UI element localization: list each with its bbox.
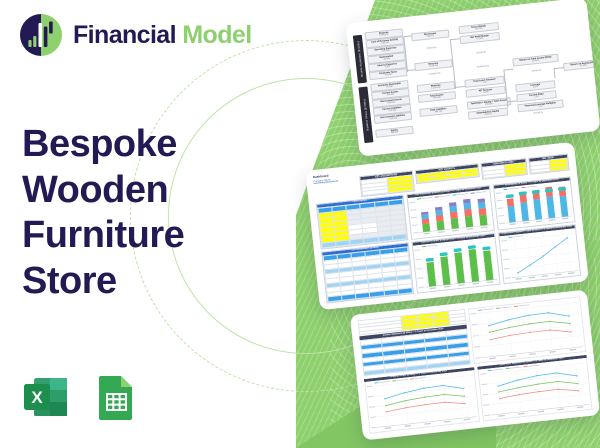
financial-statements-card[interactable]: Income Statement ($ 000s) — 5 Years to D…	[350, 290, 600, 441]
panel-income-statement-table[interactable]: Income Statement ($ 000s) — 5 Years to D…	[357, 309, 470, 376]
cost-breakdown-table	[322, 246, 413, 302]
dashboard-card[interactable]: Dashboard Company Name www.financialmode…	[305, 142, 589, 310]
dupont-section-label: Income Statement ($ 000s)	[356, 41, 363, 77]
headline-line-2: Wooden	[22, 168, 272, 214]
case-outputs-table	[317, 199, 407, 248]
dupont-analysis-card[interactable]: Income Statement ($ 000s) Balance Sheet …	[345, 0, 600, 157]
dupont-connector	[450, 38, 460, 39]
chart-income-statement-trend	[468, 296, 586, 364]
dupont-node: Net Income192,513	[411, 29, 450, 42]
chart-panel-cash-flow[interactable]: Cash Flow Statement ($ 000s) — 5 Years t…	[477, 354, 593, 421]
chart-panel-payback[interactable]: Investment Payback / Cash ($ 000s) — 5 Y…	[498, 224, 581, 285]
dupont-connector	[407, 69, 415, 70]
financial-statements-body: Income Statement ($ 000s) — 5 Years to D…	[357, 296, 592, 434]
panel-case-outputs[interactable]: Case Outputs	[316, 194, 408, 249]
dupont-connector	[503, 69, 513, 70]
chart-ebitda-and-margin	[413, 237, 500, 293]
brand-name-part2: Model	[182, 21, 251, 49]
dupont-operator: multiplied by	[415, 71, 453, 77]
chart-panel-profitability[interactable]: Profitability ($ 000s) — 5 Years to Dece…	[493, 176, 575, 230]
dupont-connector	[507, 100, 517, 101]
google-sheets-icon[interactable]	[90, 371, 142, 423]
chart-investment-payback	[499, 228, 580, 283]
headline-line-1: Bespoke	[22, 122, 272, 168]
microsoft-excel-icon[interactable]: X	[20, 371, 72, 423]
brand-logo: Financial Model	[18, 12, 252, 58]
dupont-node: AR Turnover12.99	[465, 86, 506, 99]
banner-canvas: Financial Model Bespoke Wooden Furniture…	[0, 0, 600, 448]
dupont-node: Shareholder's Equity455,070	[468, 107, 509, 120]
brand-wordmark: Financial Model	[73, 23, 252, 48]
headline-line-4: Store	[22, 259, 272, 305]
brand-name-part1: Financial	[73, 21, 176, 49]
panel-irr-moic[interactable]: IRR / MOIC	[528, 154, 570, 175]
dupont-operator: divided by	[461, 50, 501, 56]
chart-balance-sheet-trend	[364, 370, 479, 434]
dupont-node: Net Profit Margin15.30%	[460, 32, 501, 45]
dupont-tree: Income Statement ($ 000s) Balance Sheet …	[352, 3, 594, 151]
chart-panel-ebitda[interactable]: EBITDA ($ 000s) & Margin (%) — 5 Years t…	[411, 232, 500, 293]
dupont-node: Equity455,070	[375, 126, 414, 139]
dupont-node: Total Liabilities488,760	[419, 105, 458, 118]
chart-panel-balance-sheet[interactable]: Balance Sheet ($ 000s) — 5 Years to Dece…	[364, 367, 480, 434]
dupont-connector	[455, 86, 465, 87]
page-title: Bespoke Wooden Furniture Store	[22, 122, 272, 304]
svg-text:X: X	[31, 388, 43, 407]
chart-profitability	[494, 181, 574, 229]
panel-key-outputs[interactable]: KEY OUTPUTS	[415, 163, 480, 184]
dupont-node: Total Assets943,830	[418, 91, 457, 104]
chart-cash-flow-trend	[477, 358, 592, 422]
dupont-connector	[403, 35, 411, 36]
dupont-node: Revenue1,258,400	[414, 59, 453, 72]
dupont-node: Return on Total Assets (ROA)20.40%	[512, 54, 559, 67]
irr-table	[530, 158, 569, 174]
panel-sources-uses[interactable]: SOURCES & USES	[480, 158, 528, 180]
chart-panel-income-statement[interactable]	[468, 296, 586, 364]
headline-line-3: Furniture	[22, 213, 272, 259]
chart-top-5-revenue-streams	[408, 190, 494, 239]
supported-formats: X	[20, 371, 142, 423]
chart-panel-revenue-streams[interactable]: Top 5 Revenue Streams ($ 000s) — 5 Years…	[406, 185, 494, 239]
dupont-operator: divided by	[413, 45, 451, 51]
dupont-section-label: Balance Sheet ($ 000s)	[363, 99, 369, 131]
dashboard-heading: Dashboard Company Name www.financialmode…	[313, 174, 339, 187]
financial-model-circle-chart-logo	[18, 12, 64, 58]
dashboard-body: Dashboard Company Name www.financialmode…	[313, 149, 581, 304]
dupont-operator: multiplied by	[463, 64, 503, 70]
panel-cost-breakdown[interactable]: Cost Breakdown ($ 000s)	[321, 242, 414, 304]
